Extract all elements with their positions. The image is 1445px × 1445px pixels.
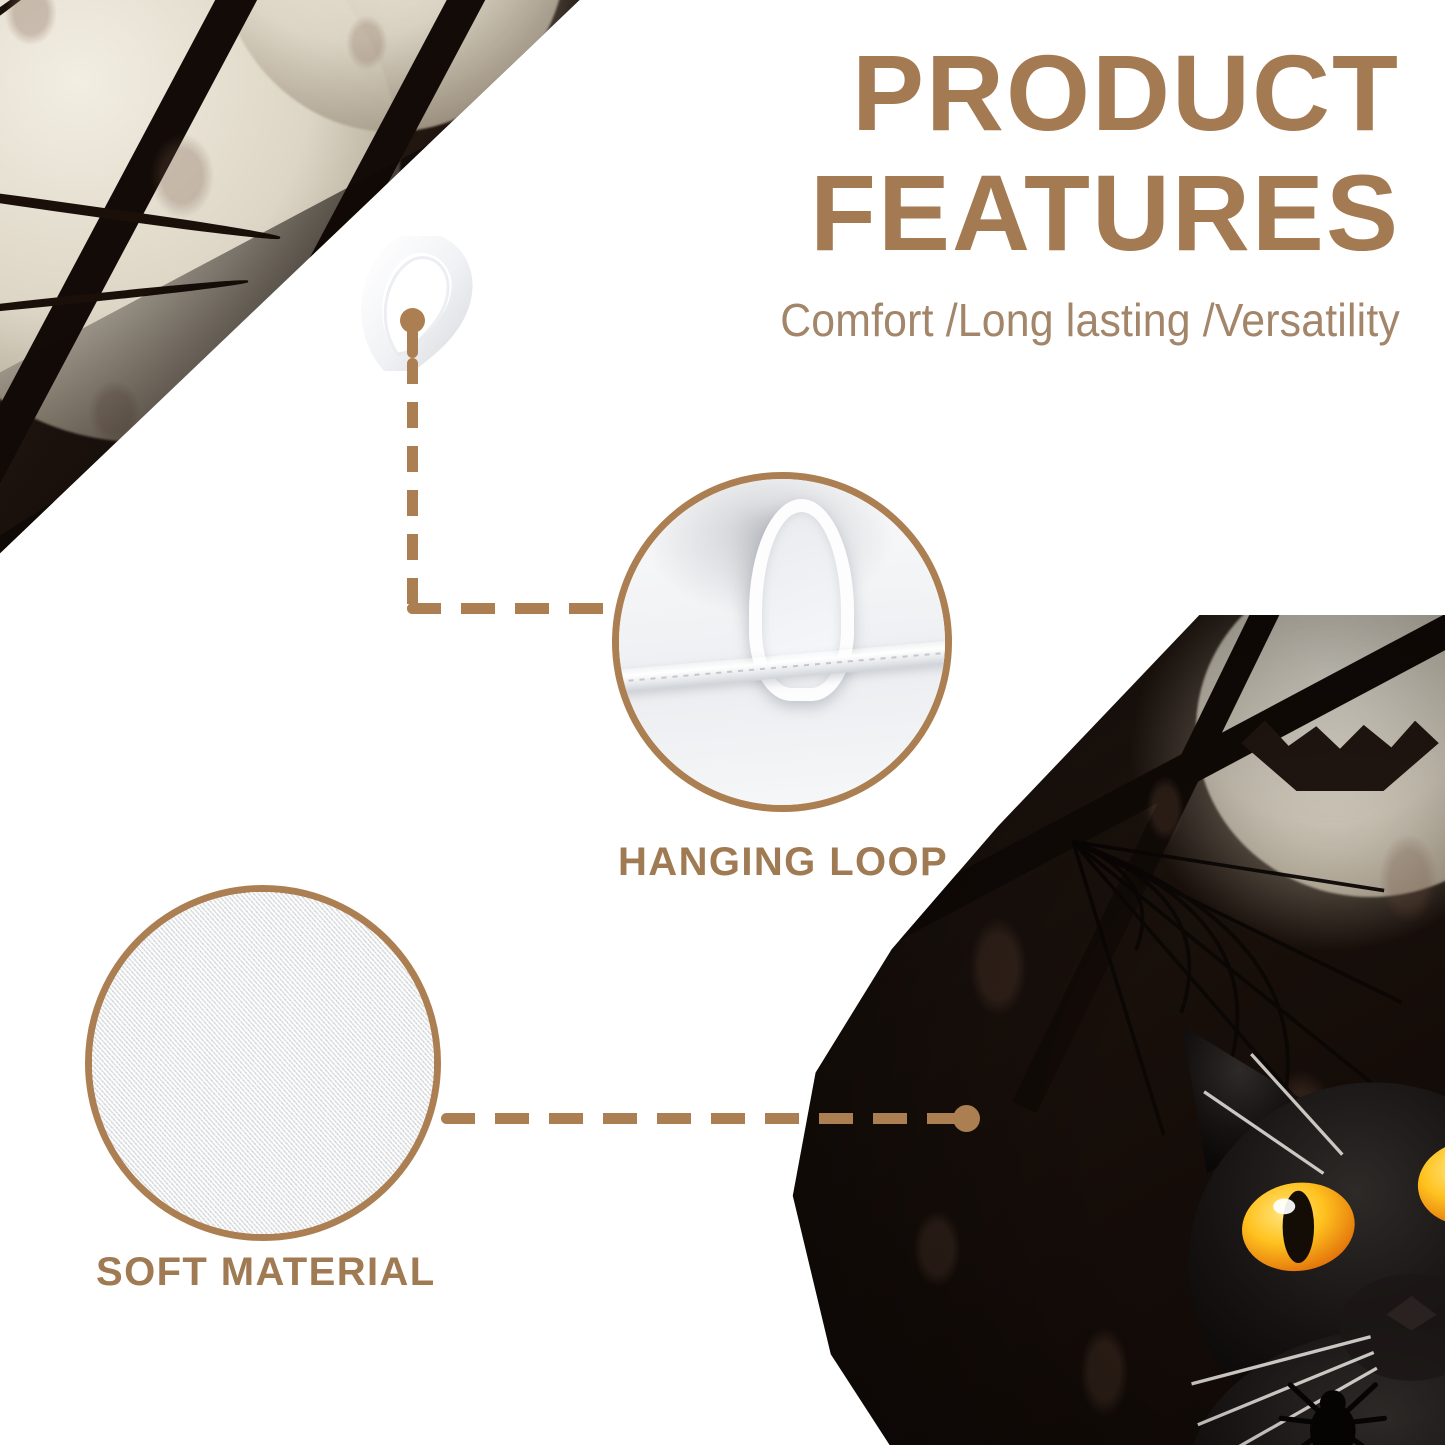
- hanging-loop-caption: HANGING LOOP: [618, 840, 948, 885]
- soft-material-caption: SOFT MATERIAL: [96, 1250, 436, 1295]
- heading-block: PRODUCT FEATURES Comfort /Long lasting /…: [640, 36, 1400, 346]
- product-features-infographic: PRODUCT FEATURES Comfort /Long lasting /…: [0, 0, 1445, 1445]
- soft-material-detail-photo: [85, 885, 441, 1241]
- callout-anchor-dot-soft: [953, 1105, 980, 1132]
- page-subtitle: Comfort /Long lasting /Versatility: [693, 295, 1400, 346]
- hanging-loop-detail-photo: [612, 472, 952, 812]
- page-title-line-1: PRODUCT: [640, 36, 1400, 150]
- page-title-line-2: FEATURES: [640, 156, 1400, 270]
